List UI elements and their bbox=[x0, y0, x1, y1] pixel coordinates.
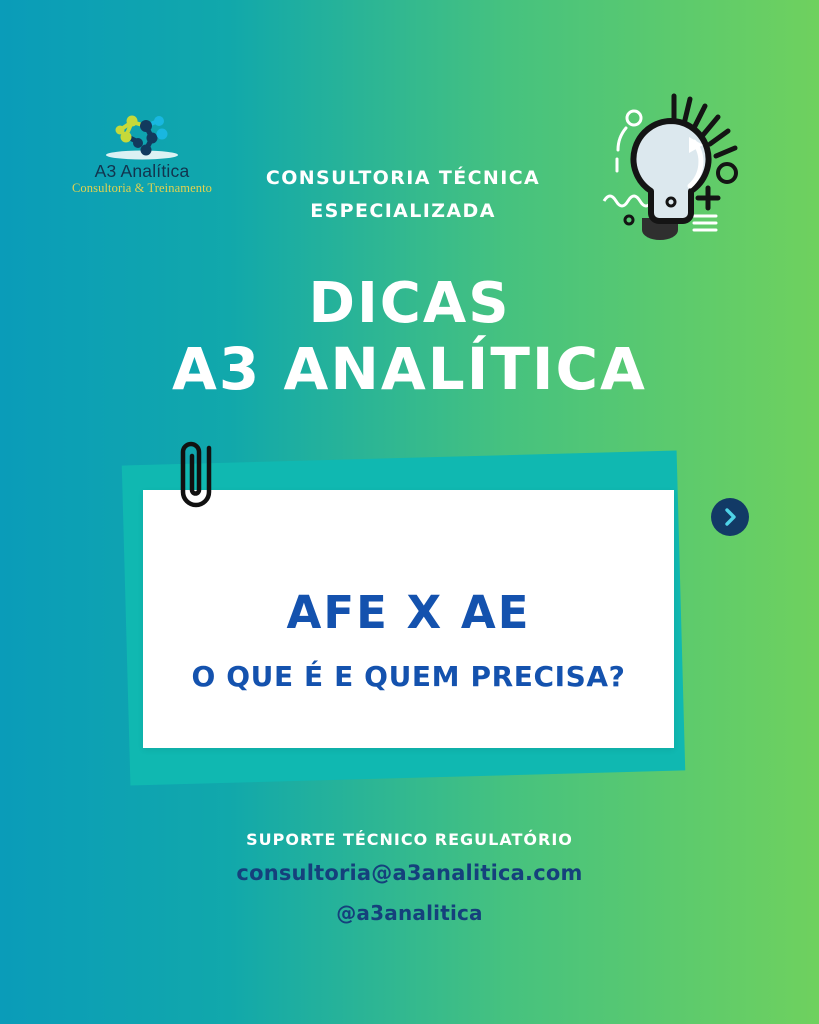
page-title: DICAS A3 ANALÍTICA bbox=[0, 276, 819, 398]
card-subheading: O QUE É E QUEM PRECISA? bbox=[143, 660, 674, 693]
page-title-line-2: A3 ANALÍTICA bbox=[0, 340, 819, 398]
page-title-line-1: DICAS bbox=[0, 276, 819, 332]
content-card: AFE X AE O QUE É E QUEM PRECISA? bbox=[143, 490, 674, 748]
footer: SUPORTE TÉCNICO REGULATÓRIO consultoria@… bbox=[0, 830, 819, 925]
content-card-stack: AFE X AE O QUE É E QUEM PRECISA? bbox=[0, 430, 819, 800]
brand-logo-tagline: Consultoria & Treinamento bbox=[62, 181, 222, 196]
footer-support-label: SUPORTE TÉCNICO REGULATÓRIO bbox=[0, 830, 819, 849]
kicker-line-2: ESPECIALIZADA bbox=[243, 195, 563, 228]
footer-social-handle[interactable]: @a3analitica bbox=[0, 901, 819, 925]
kicker-line-1: CONSULTORIA TÉCNICA bbox=[243, 162, 563, 195]
bulb-deco-circle-small bbox=[625, 216, 633, 224]
chevron-right-icon bbox=[711, 498, 749, 536]
brand-logo-name: A3 Analítica bbox=[62, 162, 222, 180]
card-heading: AFE X AE bbox=[143, 586, 674, 639]
molecule-nodes-icon bbox=[62, 112, 222, 160]
paperclip-icon bbox=[168, 438, 228, 516]
brand-logo[interactable]: A3 Analítica Consultoria & Treinamento bbox=[62, 112, 222, 196]
bulb-lines-icon bbox=[694, 216, 716, 230]
next-slide-button[interactable] bbox=[711, 498, 749, 536]
bulb-plus-icon bbox=[698, 188, 718, 208]
header-kicker: CONSULTORIA TÉCNICA ESPECIALIZADA bbox=[243, 162, 563, 229]
bulb-squiggle bbox=[604, 196, 652, 206]
bulb-deco-circle-right bbox=[718, 164, 736, 182]
bulb-deco-circle-top bbox=[627, 111, 641, 125]
lightbulb-idea-icon bbox=[586, 80, 776, 260]
footer-email[interactable]: consultoria@a3analitica.com bbox=[0, 861, 819, 885]
social-post-slide: A3 Analítica Consultoria & Treinamento C… bbox=[0, 0, 819, 1024]
